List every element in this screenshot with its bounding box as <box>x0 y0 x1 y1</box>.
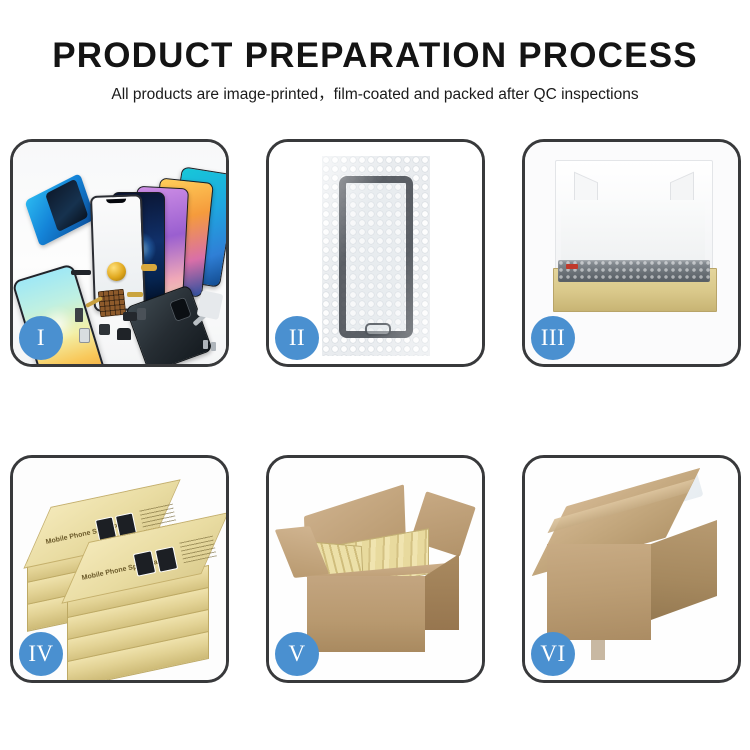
carton-handle-notch-top <box>591 640 605 660</box>
carton-front-face <box>307 576 425 652</box>
bubble-wrap <box>322 156 430 356</box>
step-panel-bubble-wrapped-screen: II <box>266 139 485 367</box>
page-subtitle: All products are image-printed，film-coat… <box>0 85 750 105</box>
page-title: PRODUCT PREPARATION PROCESS <box>0 36 750 76</box>
step-badge-5: V <box>275 632 319 676</box>
ic-chip-icon <box>98 289 127 318</box>
step-badge-1: I <box>19 316 63 360</box>
part-screw-2 <box>211 342 216 351</box>
part-connector <box>71 270 91 275</box>
part-flex-cable-3 <box>127 292 143 297</box>
notch-icon <box>106 199 126 204</box>
part-sensor <box>99 324 110 335</box>
part-sim-tray <box>79 328 90 343</box>
phone-glass-screen <box>339 176 413 338</box>
step-panel-single-boxed-screen: III <box>522 139 741 367</box>
wrapped-screen-in-box <box>558 260 710 282</box>
step-panel-spare-parts: I <box>10 139 229 367</box>
step-panel-open-carton: V <box>266 455 485 683</box>
part-button <box>75 308 83 322</box>
part-flex-cable-1 <box>141 264 157 271</box>
part-screw-1 <box>203 340 208 349</box>
step-badge-6: VI <box>531 632 575 676</box>
step-badge-3: III <box>531 316 575 360</box>
step-badge-4: IV <box>19 632 63 676</box>
header: PRODUCT PREPARATION PROCESS All products… <box>0 36 750 105</box>
step-panel-stacked-boxes: Mobile Phone Spare Parts Mobile Phone Sp… <box>10 455 229 683</box>
step-panel-sealed-carton: VI <box>522 455 741 683</box>
sealed-carton-front-face <box>547 544 651 640</box>
product-preparation-infographic: PRODUCT PREPARATION PROCESS All products… <box>0 0 750 750</box>
red-label-icon <box>566 264 578 269</box>
steps-grid: I II <box>10 139 741 683</box>
step-badge-2: II <box>275 316 319 360</box>
part-camera-module <box>123 312 137 321</box>
speaker-module-icon <box>107 262 126 281</box>
part-battery-tab <box>137 308 146 320</box>
part-vibrator <box>117 328 131 340</box>
